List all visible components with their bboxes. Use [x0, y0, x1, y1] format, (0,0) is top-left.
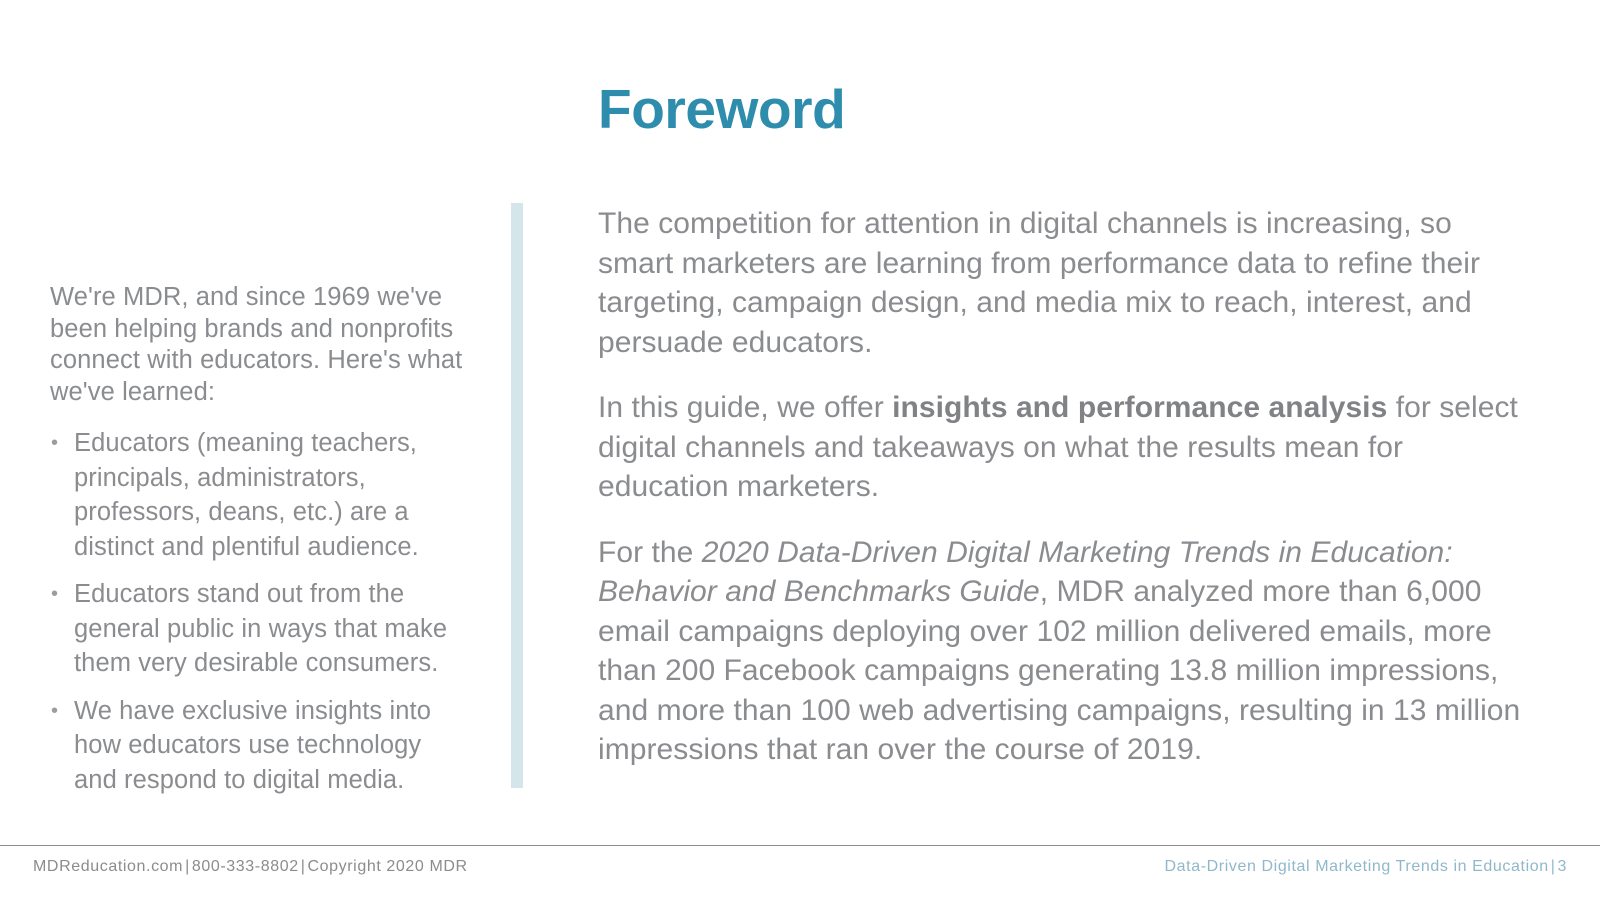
list-item: • We have exclusive insights into how ed… — [50, 694, 470, 798]
footer-website[interactable]: MDReducation.com — [33, 858, 183, 875]
main-column: Foreword The competition for attention i… — [598, 78, 1523, 770]
vertical-divider — [511, 203, 523, 788]
paragraph-2-lead: In this guide, we offer — [598, 391, 892, 424]
paragraph-3-lead: For the — [598, 536, 702, 569]
sidebar-intro-paragraph: We're MDR, and since 1969 we've been hel… — [50, 282, 470, 408]
footer-separator: | — [183, 858, 192, 875]
sidebar-bullet-list: • Educators (meaning teachers, principal… — [50, 426, 470, 797]
list-item: • Educators (meaning teachers, principal… — [50, 426, 470, 564]
footer-right: Data-Driven Digital Marketing Trends in … — [1165, 857, 1568, 877]
list-item-label: Educators stand out from the general pub… — [74, 580, 447, 677]
list-item-label: We have exclusive insights into how educ… — [74, 697, 431, 794]
body-paragraph-2: In this guide, we offer insights and per… — [598, 388, 1523, 507]
list-item: • Educators stand out from the general p… — [50, 577, 470, 681]
list-item-label: Educators (meaning teachers, principals,… — [74, 429, 419, 561]
footer-divider-rule — [0, 845, 1600, 846]
page-title: Foreword — [598, 78, 1523, 140]
footer-document-title: Data-Driven Digital Marketing Trends in … — [1165, 858, 1549, 875]
bullet-dot-icon: • — [51, 577, 58, 612]
footer-phone: 800-333-8802 — [192, 858, 299, 875]
page-number: 3 — [1558, 858, 1568, 875]
body-paragraph-1: The competition for attention in digital… — [598, 204, 1523, 362]
body-paragraph-3: For the 2020 Data-Driven Digital Marketi… — [598, 533, 1523, 770]
bullet-dot-icon: • — [51, 694, 58, 729]
paragraph-2-emphasis: insights and performance analysis — [892, 391, 1387, 424]
footer-left: MDReducation.com|800-333-8802|Copyright … — [33, 857, 468, 877]
footer-copyright: Copyright 2020 MDR — [307, 858, 467, 875]
footer-separator: | — [1549, 858, 1558, 875]
bullet-dot-icon: • — [51, 426, 58, 461]
sidebar-column: We're MDR, and since 1969 we've been hel… — [50, 282, 470, 797]
document-page: We're MDR, and since 1969 we've been hel… — [0, 0, 1600, 900]
